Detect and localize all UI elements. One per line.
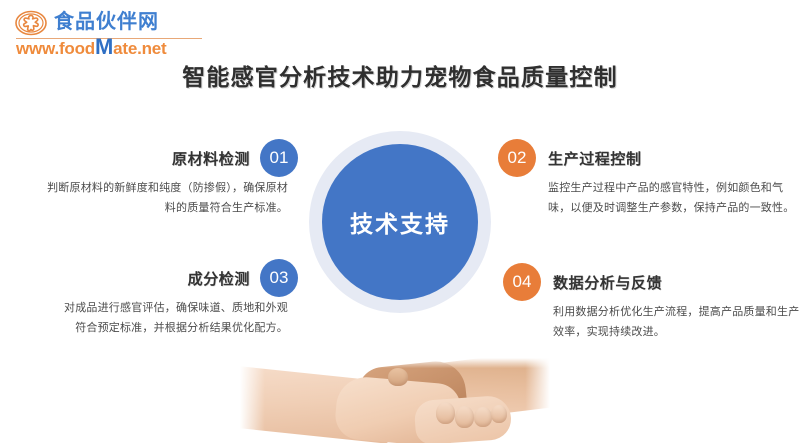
logo-chinese-name: 食品伙伴网 [54,9,159,35]
slide-canvas: 食品伙伴网 www.foodMate.net 智能感官分析技术助力宠物食品质量控… [0,0,800,443]
item-01-badge: 01 [260,139,298,177]
item-03-badge: 03 [260,259,298,297]
logo-url-m: M [95,34,113,59]
item-04-desc: 利用数据分析优化生产流程，提高产品质量和生产效率，实现持续改进。 [553,302,800,342]
item-02-head: 02 生产过程控制 [498,138,798,178]
item-03-title: 成分检测 [188,268,250,289]
knuckle-2 [455,406,474,428]
item-04[interactable]: 04 数据分析与反馈 利用数据分析优化生产流程，提高产品质量和生产效率，实现持续… [503,262,800,342]
item-03-desc: 对成品进行感官评估，确保味道、质地和外观符合预定标准，并根据分析结果优化配方。 [62,298,288,338]
handshake-photo [240,358,550,443]
logo-url-suffix: ate.net [113,39,166,58]
item-04-badge: 04 [503,263,541,301]
item-01-head: 原材料检测 01 [8,138,298,178]
thumb-knuckle [388,368,408,386]
item-02[interactable]: 02 生产过程控制 监控生产过程中产品的感官特性，例如颜色和气味，以便及时调整生… [498,138,798,218]
center-hub-label: 技术支持 [350,205,450,239]
item-02-title: 生产过程控制 [548,148,642,169]
knuckle-4 [491,405,507,423]
page-title: 智能感官分析技术助力宠物食品质量控制 [0,58,800,92]
item-02-desc: 监控生产过程中产品的感官特性，例如颜色和气味，以便及时调整生产参数，保持产品的一… [548,178,796,218]
item-03[interactable]: 成分检测 03 对成品进行感官评估，确保味道、质地和外观符合预定标准，并根据分析… [8,258,298,338]
item-03-head: 成分检测 03 [8,258,298,298]
flower-emblem-icon [14,10,48,36]
item-01[interactable]: 原材料检测 01 判断原材料的新鲜度和纯度（防掺假），确保原材料的质量符合生产标… [8,138,298,218]
item-04-title: 数据分析与反馈 [553,272,662,293]
logo-url-prefix: www.food [16,39,95,58]
center-hub[interactable]: 技术支持 [322,144,478,300]
knuckle-1 [436,402,455,424]
knuckle-3 [474,407,492,427]
logo-url[interactable]: www.foodMate.net [16,36,167,60]
item-04-head: 04 数据分析与反馈 [503,262,800,302]
item-01-title: 原材料检测 [172,148,250,169]
item-02-badge: 02 [498,139,536,177]
site-logo[interactable]: 食品伙伴网 www.foodMate.net [14,8,204,54]
item-01-desc: 判断原材料的新鲜度和纯度（防掺假），确保原材料的质量符合生产标准。 [38,178,288,218]
